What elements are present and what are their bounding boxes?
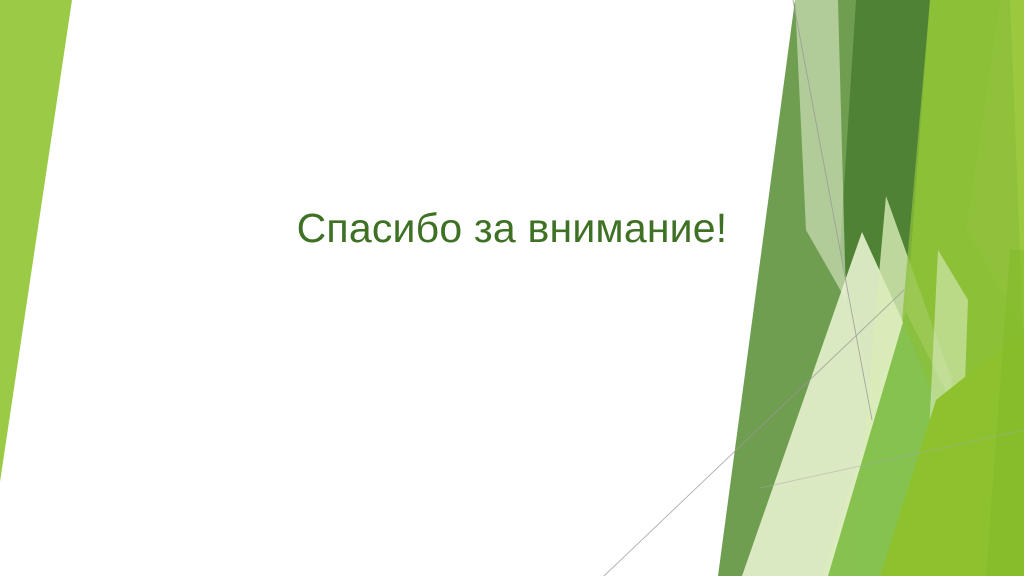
- presentation-slide: Спасибо за внимание!: [0, 0, 1024, 576]
- facet-mid-lower-wedge: [828, 312, 986, 576]
- facet-bottom-right-edge: [986, 250, 1024, 576]
- page-title: Спасибо за внимание!: [297, 202, 728, 254]
- title-placeholder: Спасибо за внимание!: [0, 202, 1024, 254]
- left-decoration-graphic: [0, 0, 1024, 576]
- facet-pale-lower-triangle: [742, 232, 966, 576]
- facet-bottom-right-accent: [880, 330, 1024, 576]
- facet-bright-right-band: [766, 0, 1024, 576]
- facet-pale-top-sliver: [795, 0, 846, 300]
- facet-light-right-sliver: [966, 0, 1024, 330]
- facet-dark-green-v: [840, 0, 930, 400]
- facet-mid-green-panel: [718, 0, 930, 576]
- right-decoration-graphic: [0, 0, 1024, 576]
- hairline-diagonal-long: [760, 430, 1024, 488]
- hairline-diagonal-lower: [604, 290, 904, 576]
- facet-pale-vertical-sliver: [922, 250, 968, 576]
